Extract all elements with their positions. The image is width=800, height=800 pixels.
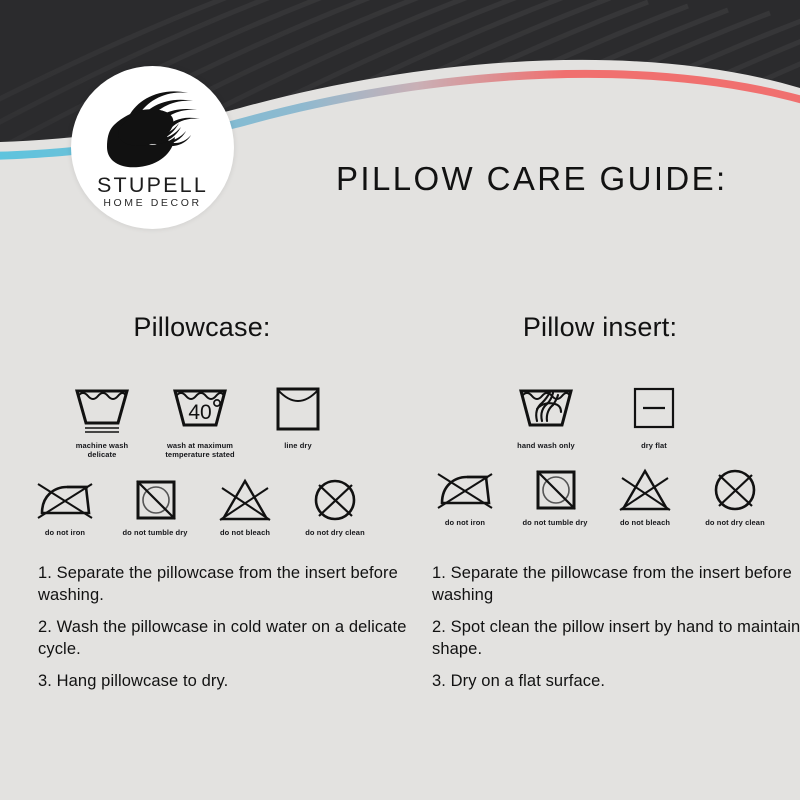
pillow-insert-icon-row-1: hand wash only dry flat — [400, 383, 800, 450]
pillowcase-icon-row-2: do not iron do not tumble dry do not ble… — [0, 476, 400, 537]
step-item: 3. Dry on a flat surface. — [432, 671, 800, 693]
pillowcase-icon-row-1: machine wash delicate 40 wash at maximum… — [0, 383, 400, 460]
icon-caption: machine wash delicate — [76, 441, 128, 460]
icon-caption: do not dry clean — [705, 518, 765, 527]
pillow-insert-steps: 1. Separate the pillowcase from the inse… — [432, 563, 800, 693]
pillowcase-steps: 1. Separate the pillowcase from the inse… — [38, 563, 410, 693]
icon-line-dry: line dry — [260, 383, 336, 460]
step-item: 2. Wash the pillowcase in cold water on … — [38, 617, 410, 661]
pillowcase-heading: Pillowcase: — [0, 312, 400, 343]
step-item: 1. Separate the pillowcase from the inse… — [38, 563, 410, 607]
icon-do-not-tumble-dry: do not tumble dry — [517, 466, 593, 527]
icon-do-not-bleach: do not bleach — [607, 466, 683, 527]
icon-hand-wash-only: hand wash only — [508, 383, 584, 450]
icon-do-not-dry-clean: do not dry clean — [697, 466, 773, 527]
icon-caption: dry flat — [641, 441, 667, 450]
icon-do-not-tumble-dry: do not tumble dry — [117, 476, 193, 537]
icon-caption: do not bleach — [220, 528, 270, 537]
icon-dry-flat: dry flat — [616, 383, 692, 450]
icon-caption: do not dry clean — [305, 528, 365, 537]
svg-text:40: 40 — [188, 401, 211, 424]
icon-do-not-iron: do not iron — [427, 466, 503, 527]
icon-machine-wash-delicate: machine wash delicate — [64, 383, 140, 460]
icon-wash-at-40-degrees: 40 wash at maximum temperature stated — [162, 383, 238, 460]
icon-caption: do not tumble dry — [522, 518, 587, 527]
step-item: 3. Hang pillowcase to dry. — [38, 671, 410, 693]
icon-caption: do not bleach — [620, 518, 670, 527]
icon-do-not-bleach: do not bleach — [207, 476, 283, 537]
stupell-swoosh-logo — [93, 77, 213, 177]
page-title: PILLOW CARE GUIDE: — [336, 160, 728, 198]
step-item: 1. Separate the pillowcase from the inse… — [432, 563, 800, 607]
logo-wordmark: STUPELL — [71, 173, 234, 198]
icon-do-not-iron: do not iron — [27, 476, 103, 537]
icon-caption: do not iron — [45, 528, 85, 537]
pillow-insert-icon-row-2: do not iron do not tumble dry do not ble… — [400, 466, 800, 527]
icon-caption: line dry — [284, 441, 311, 450]
pillow-insert-column: Pillow insert: hand wash only dry flat — [400, 312, 800, 528]
logo-tagline: HOME DECOR — [71, 197, 234, 209]
icon-caption: hand wash only — [517, 441, 575, 450]
icon-caption: wash at maximum temperature stated — [165, 441, 234, 460]
icon-caption: do not iron — [445, 518, 485, 527]
brand-logo-badge: STUPELL HOME DECOR — [71, 66, 234, 229]
icon-do-not-dry-clean: do not dry clean — [297, 476, 373, 537]
icon-caption: do not tumble dry — [122, 528, 187, 537]
pillowcase-column: Pillowcase: machine wash delicate 40 was… — [0, 312, 400, 537]
step-item: 2. Spot clean the pillow insert by hand … — [432, 617, 800, 661]
pillow-insert-heading: Pillow insert: — [400, 312, 800, 343]
